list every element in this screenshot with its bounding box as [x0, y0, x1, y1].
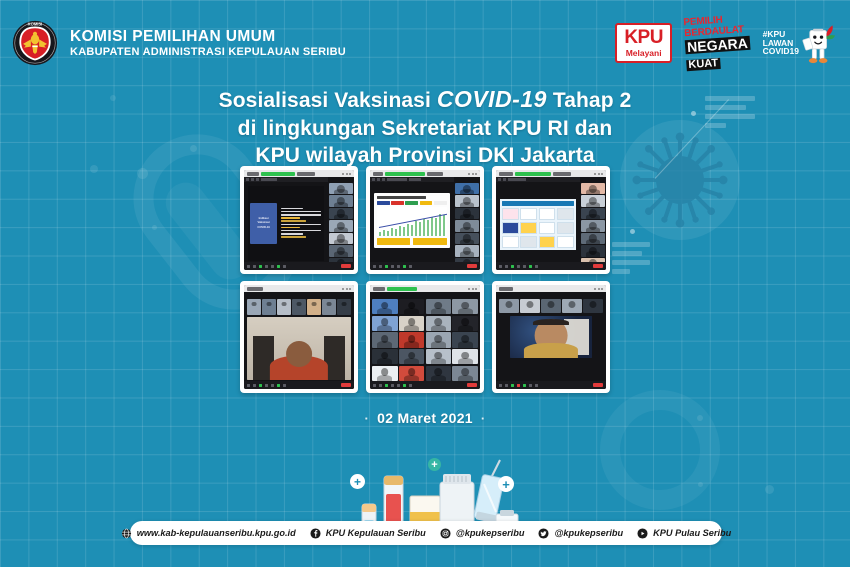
footer-item-facebook[interactable]: KPU Kepulauan Seribu — [310, 528, 426, 539]
title-line-1-suffix: Tahap 2 — [547, 89, 631, 112]
participant-tile[interactable] — [399, 366, 425, 381]
kpu-melayani-logo: KPU Melayani — [615, 23, 672, 64]
browser-chrome — [496, 285, 606, 292]
participant-tile[interactable] — [399, 349, 425, 364]
globe-icon — [121, 528, 132, 539]
participant-tile[interactable] — [426, 349, 452, 364]
title-line-1-prefix: Sosialisasi Vaksinasi — [219, 89, 437, 112]
participant-filmstrip — [499, 299, 603, 313]
chart-footer-buttons — [377, 238, 447, 245]
end-meeting-button[interactable] — [467, 383, 477, 388]
org-name: KOMISI PEMILIHAN UMUM — [70, 28, 346, 45]
participant-tile[interactable] — [452, 366, 478, 381]
zoom-body — [370, 292, 480, 389]
participant-thumbnail[interactable] — [581, 220, 605, 231]
participant-thumbnail[interactable] — [520, 299, 540, 313]
slide-content-materi: IndikasiVaksinasiCOVID-19 — [248, 186, 324, 261]
covid-case-chart — [377, 207, 447, 237]
zoom-shared-screen — [370, 177, 454, 270]
browser-chrome — [244, 285, 354, 292]
participant-thumbnail[interactable] — [499, 299, 519, 313]
participant-tile[interactable] — [372, 366, 398, 381]
screenshot-card-3[interactable] — [492, 166, 610, 274]
participant-thumbnail[interactable] — [247, 299, 261, 315]
poster-header: KOMISI KOMISI PEMILIHAN UMUM KABUPATEN A… — [0, 14, 850, 72]
participant-tile[interactable] — [452, 299, 478, 314]
mascot-logo: #KPU LAWAN COVID19 — [763, 22, 836, 64]
title-line-1: Sosialisasi Vaksinasi COVID-19 Tahap 2 — [0, 84, 850, 115]
footer-website-text: www.kab-kepulauanseribu.kpu.go.id — [137, 528, 296, 538]
participant-thumbnail[interactable] — [581, 183, 605, 194]
participant-thumbnail[interactable] — [581, 208, 605, 219]
presentation-slide — [500, 199, 576, 250]
browser-chrome — [370, 170, 480, 177]
footer-facebook-text: KPU Kepulauan Seribu — [326, 528, 426, 538]
zoom-toolbar — [244, 381, 354, 389]
browser-chrome — [244, 170, 354, 177]
page-title: Sosialisasi Vaksinasi COVID-19 Tahap 2 d… — [0, 84, 850, 170]
participant-thumbnail[interactable] — [455, 245, 479, 256]
end-meeting-button[interactable] — [593, 264, 603, 269]
participant-thumbnail[interactable] — [277, 299, 291, 315]
social-footer-bar: www.kab-kepulauanseribu.kpu.go.id KPU Ke… — [130, 521, 722, 545]
participant-thumbnail[interactable] — [541, 299, 561, 313]
slide-title-bar — [502, 201, 574, 206]
flow-row — [502, 208, 574, 221]
footer-item-instagram[interactable]: @kpukepseribu — [440, 528, 525, 539]
facebook-icon — [310, 528, 321, 539]
participant-thumbnail[interactable] — [307, 299, 321, 315]
footer-instagram-text: @kpukepseribu — [456, 528, 525, 538]
participant-tile[interactable] — [452, 316, 478, 331]
flow-row — [502, 236, 574, 249]
participant-thumbnail[interactable] — [329, 183, 353, 194]
active-speaker-video — [510, 316, 592, 358]
footer-twitter-text: @kpukepseribu — [554, 528, 623, 538]
participant-tile[interactable] — [452, 349, 478, 364]
slide-banner: IndikasiVaksinasiCOVID-19 — [250, 203, 277, 244]
title-line-2: di lingkungan Sekretariat KPU RI dan — [0, 115, 850, 143]
mascot-line-3: COVID19 — [763, 47, 799, 56]
participant-filmstrip — [328, 177, 354, 270]
kpu-melayani-bottom: Melayani — [624, 49, 663, 58]
youtube-icon — [637, 528, 648, 539]
screenshot-card-2[interactable] — [366, 166, 484, 274]
flow-row — [502, 222, 574, 235]
zoom-shared-screen: IndikasiVaksinasiCOVID-19 — [244, 177, 328, 270]
twitter-icon — [538, 528, 549, 539]
organization-name-block: KOMISI PEMILIHAN UMUM KABUPATEN ADMINIST… — [70, 28, 346, 58]
plus-icon: + — [428, 458, 441, 471]
zoom-body: IndikasiVaksinasiCOVID-19 — [244, 177, 354, 270]
kpu-melayani-top: KPU — [624, 28, 663, 47]
participant-filmstrip — [454, 177, 480, 270]
instagram-icon — [440, 528, 451, 539]
browser-chrome — [496, 170, 606, 177]
presentation-slide: IndikasiVaksinasiCOVID-19 — [248, 186, 324, 261]
browser-chrome — [370, 285, 480, 292]
participant-thumbnail[interactable] — [455, 233, 479, 244]
footer-item-youtube[interactable]: KPU Pulau Seribu — [637, 528, 731, 539]
participant-tile[interactable] — [426, 332, 452, 347]
zoom-body — [496, 292, 606, 389]
zoom-body — [370, 177, 480, 270]
participant-tile[interactable] — [399, 299, 425, 314]
participant-tile[interactable] — [452, 332, 478, 347]
zoom-window-4 — [244, 285, 354, 389]
mascot-text: #KPU LAWAN COVID19 — [763, 30, 799, 57]
participant-tile[interactable] — [399, 332, 425, 347]
slide-bullet-list — [280, 206, 321, 242]
chart-legend — [377, 201, 447, 205]
zoom-window-1: IndikasiVaksinasiCOVID-19 — [244, 170, 354, 270]
participant-tile[interactable] — [426, 299, 452, 314]
participant-thumbnail[interactable] — [562, 299, 582, 313]
participant-tile[interactable] — [372, 332, 398, 347]
presentation-slide — [374, 193, 450, 248]
zoom-toolbar — [244, 262, 354, 270]
zoom-menu-bar — [370, 177, 454, 182]
org-subname: KABUPATEN ADMINISTRASI KEPULAUAN SERIBU — [70, 46, 346, 58]
slide-content-alur-pelayanan — [500, 199, 576, 250]
participant-thumbnail[interactable] — [329, 220, 353, 231]
svg-text:KOMISI: KOMISI — [28, 22, 43, 27]
plus-icon: + — [350, 474, 365, 489]
participant-thumbnail[interactable] — [292, 299, 306, 315]
footer-item-twitter[interactable]: @kpukepseribu — [538, 528, 623, 539]
participant-tile[interactable] — [426, 316, 452, 331]
participant-thumbnail[interactable] — [262, 299, 276, 315]
participant-thumbnail[interactable] — [455, 183, 479, 194]
slide-content-statistik — [374, 193, 450, 248]
footer-item-website[interactable]: www.kab-kepulauanseribu.kpu.go.id — [121, 528, 296, 539]
participant-tile[interactable] — [399, 316, 425, 331]
screenshot-grid: IndikasiVaksinasiCOVID-19 — [240, 166, 620, 393]
ballot-box-mascot-icon — [802, 22, 836, 64]
participant-thumbnail[interactable] — [455, 195, 479, 206]
participant-thumbnail[interactable] — [329, 245, 353, 256]
screenshot-card-1[interactable]: IndikasiVaksinasiCOVID-19 — [240, 166, 358, 274]
participant-tile[interactable] — [426, 366, 452, 381]
screenshot-card-6[interactable] — [492, 281, 610, 393]
bg-dot — [765, 485, 774, 494]
active-speaker-video — [247, 317, 351, 380]
participant-filmstrip — [247, 299, 351, 315]
speaker-figure — [270, 341, 328, 380]
zoom-toolbar — [496, 381, 606, 389]
participant-tile[interactable] — [372, 349, 398, 364]
zoom-window-6 — [496, 285, 606, 389]
participant-thumbnail[interactable] — [329, 208, 353, 219]
participant-thumbnail[interactable] — [329, 195, 353, 206]
slogan-line-3: NEGARA — [685, 36, 750, 54]
end-meeting-button[interactable] — [341, 264, 351, 269]
kpu-logo: KOMISI — [12, 20, 58, 66]
zoom-toolbar — [370, 381, 480, 389]
participant-thumbnail[interactable] — [337, 299, 351, 315]
zoom-shared-screen — [496, 177, 580, 270]
participant-thumbnail[interactable] — [329, 233, 353, 244]
participant-tile[interactable] — [372, 316, 398, 331]
participant-thumbnail[interactable] — [455, 208, 479, 219]
participant-thumbnail[interactable] — [581, 195, 605, 206]
screenshot-card-4[interactable] — [240, 281, 358, 393]
zoom-body — [244, 292, 354, 389]
zoom-toolbar — [370, 262, 480, 270]
slogan-line-4: KUAT — [686, 58, 720, 71]
date-bullet-left: · — [364, 411, 369, 426]
participant-thumbnail[interactable] — [583, 299, 603, 313]
slogan-logo: PEMILIH BERDAULAT NEGARA KUAT — [683, 14, 751, 72]
poster-canvas: KOMISI KOMISI PEMILIHAN UMUM KABUPATEN A… — [0, 0, 850, 567]
participant-tile[interactable] — [372, 299, 398, 314]
plus-icon: + — [498, 476, 514, 492]
participant-thumbnail[interactable] — [322, 299, 336, 315]
header-logos: KPU Melayani PEMILIH BERDAULAT NEGARA KU… — [615, 16, 836, 70]
title-covid-word: COVID-19 — [437, 86, 547, 112]
participant-thumbnail[interactable] — [581, 245, 605, 256]
annotation-dot — [630, 229, 635, 234]
footer-youtube-text: KPU Pulau Seribu — [653, 528, 731, 538]
zoom-menu-bar — [496, 177, 580, 182]
gallery-view-grid — [372, 299, 478, 381]
date-text: 02 Maret 2021 — [377, 410, 473, 426]
end-meeting-button[interactable] — [341, 383, 351, 388]
zoom-window-5 — [370, 285, 480, 389]
participant-filmstrip — [580, 177, 606, 270]
date-bullet-right: · — [481, 411, 486, 426]
participant-thumbnail[interactable] — [455, 220, 479, 231]
end-meeting-button[interactable] — [467, 264, 477, 269]
zoom-body — [496, 177, 606, 270]
zoom-window-3 — [496, 170, 606, 270]
end-meeting-button[interactable] — [593, 383, 603, 388]
screenshot-card-5[interactable] — [366, 281, 484, 393]
participant-thumbnail[interactable] — [581, 233, 605, 244]
event-date: ·02 Maret 2021· — [0, 410, 850, 426]
zoom-menu-bar — [244, 177, 328, 182]
zoom-toolbar — [496, 262, 606, 270]
zoom-window-2 — [370, 170, 480, 270]
